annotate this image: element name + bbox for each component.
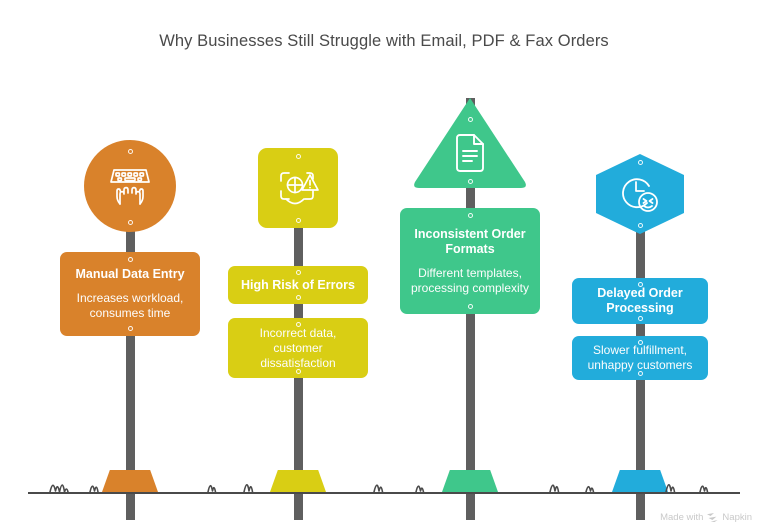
screw-top (638, 282, 643, 287)
signpost-panel[interactable]: Incorrect data, customer dissatisfaction (228, 318, 368, 378)
signpost-head-triangle[interactable] (411, 96, 529, 190)
screw-top (128, 149, 133, 154)
screw-bottom (128, 220, 133, 225)
watermark-label: Made with (660, 512, 703, 523)
screw-bottom (468, 304, 473, 309)
panel-heading: Manual Data Entry (75, 267, 184, 282)
panel-body: Different templates, processing complexi… (408, 266, 532, 296)
watermark-brand: Napkin (722, 512, 752, 523)
signpost-delayed-order-processing[interactable]: Delayed Order Processing Slower fulfillm… (570, 96, 710, 496)
panel-body: Incorrect data, customer dissatisfaction (236, 326, 360, 371)
watermark: Made with Napkin (660, 512, 752, 523)
signpost-panel[interactable]: Inconsistent Order Formats Different tem… (400, 208, 540, 314)
screw-top (638, 160, 643, 165)
screw-top (468, 213, 473, 218)
screw-top (468, 117, 473, 122)
screw-bottom (128, 326, 133, 331)
signpost-panel[interactable]: Slower fulfillment, unhappy customers (572, 336, 708, 380)
screw-bottom (638, 371, 643, 376)
screw-bottom (296, 295, 301, 300)
signpost-panel[interactable]: Delayed Order Processing (572, 278, 708, 324)
screw-bottom (468, 179, 473, 184)
panel-body: Slower fulfillment, unhappy customers (580, 343, 700, 373)
screw-bottom (638, 316, 643, 321)
panel-body: Increases workload, consumes time (68, 291, 192, 321)
screw-bottom (638, 223, 643, 228)
panel-heading: Inconsistent Order Formats (408, 227, 532, 257)
panel-heading: High Risk of Errors (241, 278, 355, 293)
panel-heading: Delayed Order Processing (580, 286, 700, 316)
grass-tufts (28, 462, 740, 494)
signpost-head-circle[interactable] (84, 140, 176, 232)
napkin-logo-icon (707, 513, 718, 522)
scan-error-warning-icon (277, 169, 319, 207)
screw-top (296, 322, 301, 327)
page-title: Why Businesses Still Struggle with Email… (0, 32, 768, 51)
screw-top (638, 340, 643, 345)
document-file-icon (453, 133, 487, 173)
signpost-head-hexagon[interactable] (592, 152, 688, 236)
diagram-canvas: Why Businesses Still Struggle with Email… (0, 0, 768, 531)
signpost-high-risk-of-errors[interactable]: High Risk of Errors Incorrect data, cust… (228, 96, 368, 496)
screw-bottom (296, 218, 301, 223)
signpost-head-square[interactable] (258, 148, 338, 228)
screw-top (296, 154, 301, 159)
signpost-panel[interactable]: Manual Data Entry Increases workload, co… (60, 252, 200, 336)
signpost-inconsistent-order-formats[interactable]: Inconsistent Order Formats Different tem… (400, 96, 540, 496)
clock-sleeping-face-icon (619, 174, 661, 214)
screw-bottom (296, 369, 301, 374)
screw-top (296, 270, 301, 275)
keyboard-typing-hands-icon (108, 166, 152, 206)
screw-top (128, 257, 133, 262)
signpost-panel[interactable]: High Risk of Errors (228, 266, 368, 304)
signpost-manual-data-entry[interactable]: Manual Data Entry Increases workload, co… (60, 96, 200, 496)
